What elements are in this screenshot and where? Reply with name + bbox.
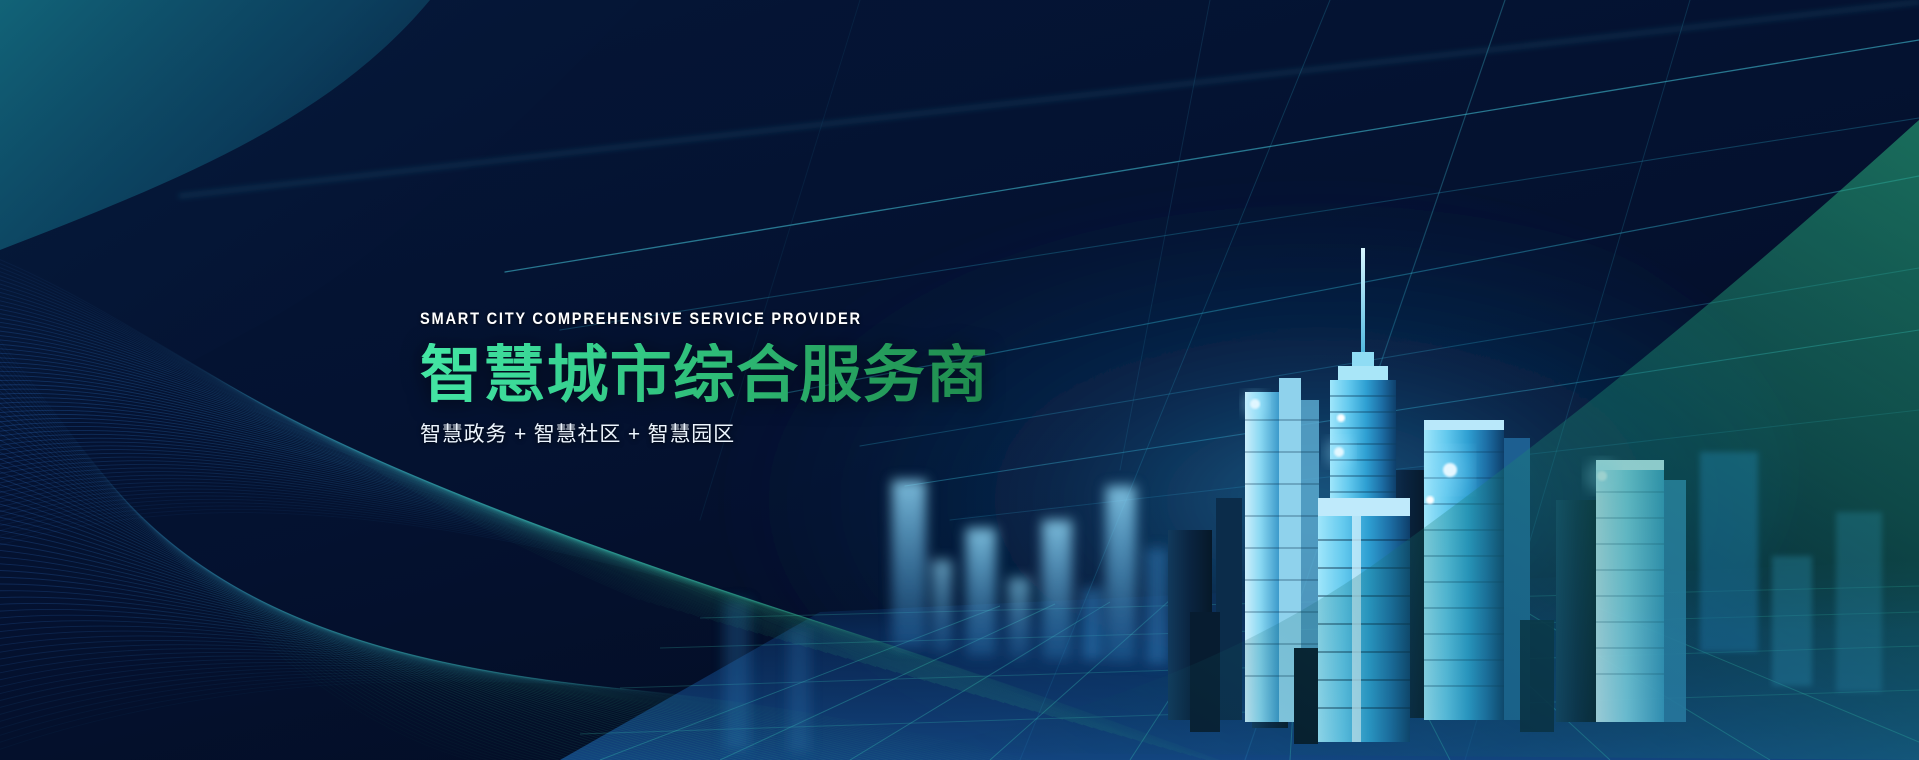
eyebrow-text: SMART CITY COMPREHENSIVE SERVICE PROVIDE…	[420, 310, 909, 327]
hero-banner: SMART CITY COMPREHENSIVE SERVICE PROVIDE…	[0, 0, 1919, 760]
page-title: 智慧城市综合服务商	[420, 343, 989, 408]
headline-group: SMART CITY COMPREHENSIVE SERVICE PROVIDE…	[420, 310, 989, 445]
tagline-text: 智慧政务 + 智慧社区 + 智慧园区	[420, 424, 989, 445]
